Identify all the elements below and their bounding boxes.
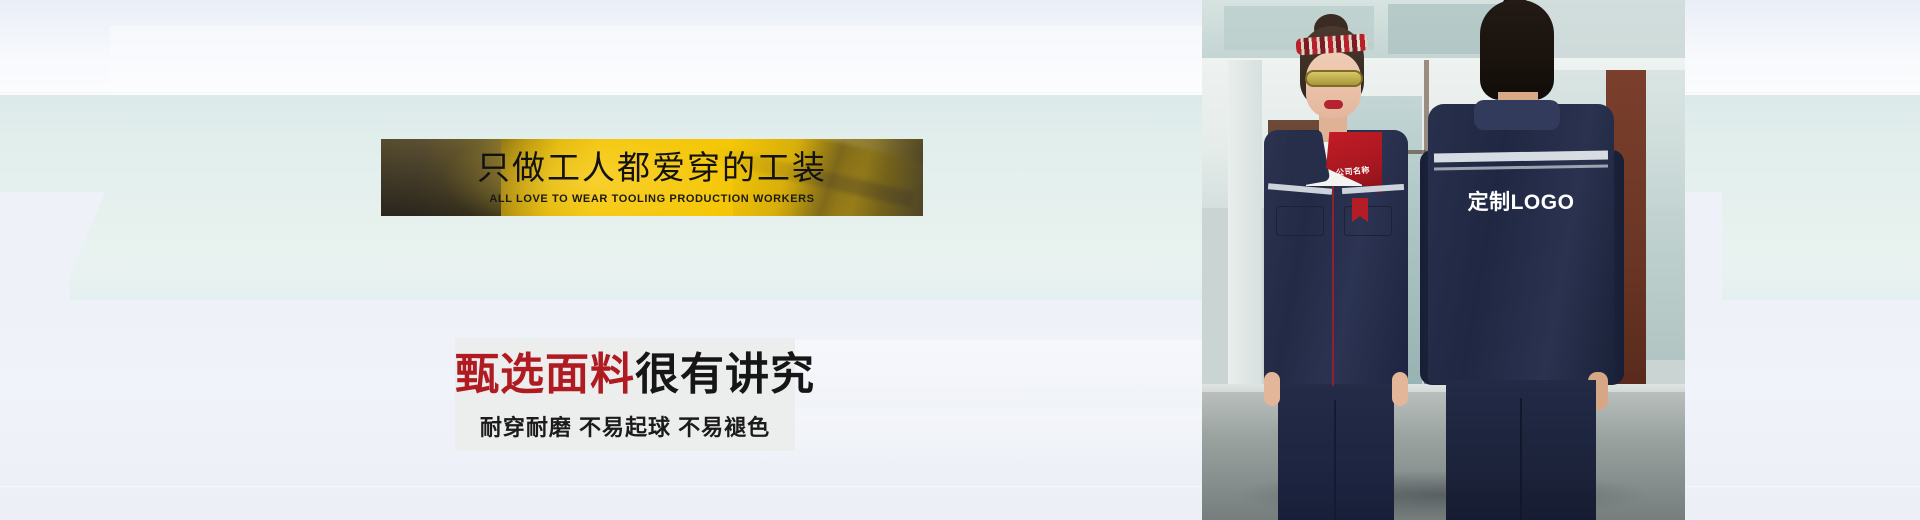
banner-subheadline-english: ALL LOVE TO WEAR TOOLING PRODUCTION WORK… [381,193,923,205]
male-model-trouser-seam [1520,398,1522,520]
yellow-headline-banner: 只做工人都爱穿的工装 ALL LOVE TO WEAR TOOLING PROD… [381,139,923,216]
male-model-collar [1474,100,1560,130]
female-model-lips [1324,100,1343,109]
photo-pillar [1228,60,1262,390]
male-model-jacket-back [1428,104,1614,384]
fabric-headline: 甄选面料很有讲究 [455,348,795,402]
female-model-pocket-left [1276,206,1324,236]
background-notch-left-slant [62,192,108,304]
female-model-trousers [1278,384,1394,520]
background-notch-left [0,192,70,304]
fabric-subline: 耐穿耐磨 不易起球 不易褪色 [455,410,795,442]
fabric-headline-highlight: 甄选面料 [455,350,635,399]
background-band-white-secondary [110,26,1210,92]
male-model-custom-logo-print: 定制LOGO [1428,186,1614,216]
female-model-zipper [1332,186,1334,386]
female-model-trouser-seam [1334,400,1336,520]
product-photo: 公司名称 定制LOGO [1202,0,1685,520]
female-model-hand-right [1392,372,1408,406]
male-model-hair [1480,0,1554,100]
banner-headline: 只做工人都爱穿的工装 [381,148,923,188]
female-model-sunglasses [1305,70,1363,87]
female-model-hand-left [1264,372,1280,406]
fabric-headline-rest: 很有讲究 [635,350,815,399]
female-model-pocket-right [1344,206,1392,236]
promo-banner-stage: 只做工人都爱穿的工装 ALL LOVE TO WEAR TOOLING PROD… [0,0,1920,520]
